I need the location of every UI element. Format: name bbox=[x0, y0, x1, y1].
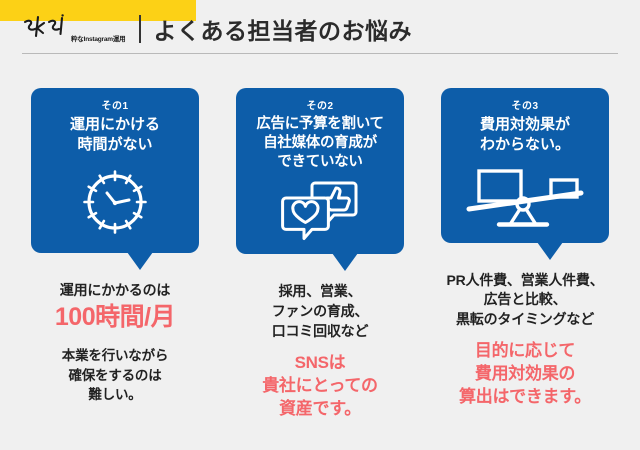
detail-highlight-line: 費用対効果の bbox=[425, 363, 625, 386]
clock-icon bbox=[76, 155, 154, 241]
detail-note-line: 難しい。 bbox=[15, 385, 215, 404]
detail-lead-line: 運用にかかるのは bbox=[15, 281, 215, 301]
problem-detail-3: PR人件費、営業人件費、 広告と比較、 黒転のタイミングなど 目的に応じて 費用… bbox=[425, 271, 625, 409]
detail-lead-line: PR人件費、営業人件費、 bbox=[425, 271, 625, 291]
detail-highlight-line: SNSは bbox=[220, 352, 420, 375]
detail-highlight-line: 貴社にとっての bbox=[220, 375, 420, 398]
detail-highlight-line: 目的に応じて bbox=[425, 340, 625, 363]
bubble-eyebrow-3: その3 bbox=[511, 97, 538, 112]
page-title: よくある担当者のお悩み bbox=[153, 12, 412, 46]
problem-detail-1: 運用にかかるのは 100時間/月 本業を行いながら 確保をするのは 難しい。 bbox=[15, 281, 215, 404]
detail-lead-line: ファンの育成、 bbox=[220, 302, 420, 322]
problem-columns: その1 運用にかける 時間がない bbox=[0, 88, 640, 420]
detail-highlight-3: 目的に応じて 費用対効果の 算出はできます。 bbox=[425, 340, 625, 408]
detail-highlight-line: 資産です。 bbox=[220, 398, 420, 421]
engagement-bubbles-icon bbox=[279, 172, 361, 242]
bubble-card-3: その3 費用対効果が わからない。 bbox=[441, 88, 609, 243]
brand-tagline: 粋なInstagram運用 bbox=[71, 33, 125, 45]
bubble-heading-1: 運用にかける 時間がない bbox=[70, 115, 160, 155]
header-rule bbox=[22, 53, 618, 54]
detail-lead-3: PR人件費、営業人件費、 広告と比較、 黒転のタイミングなど bbox=[425, 271, 625, 331]
header-divider bbox=[139, 15, 141, 43]
bubble-heading-line: 自社媒体の育成が bbox=[256, 134, 383, 153]
detail-lead-line: 採用、営業、 bbox=[220, 282, 420, 302]
bubble-heading-line: できていない bbox=[256, 153, 383, 172]
detail-note-1: 本業を行いながら 確保をするのは 難しい。 bbox=[15, 346, 215, 403]
brand-logo: 粋なInstagram運用 bbox=[22, 14, 125, 45]
header-brand-row: 粋なInstagram運用 よくある担当者のお悩み bbox=[22, 12, 412, 46]
detail-highlight-2: SNSは 貴社にとっての 資産です。 bbox=[220, 352, 420, 420]
bubble-card-1: その1 運用にかける 時間がない bbox=[31, 88, 199, 253]
bubble-eyebrow-2: その2 bbox=[306, 97, 333, 112]
detail-highlight-big-1: 100時間/月 bbox=[15, 302, 215, 332]
bubble-eyebrow-1: その1 bbox=[101, 97, 128, 112]
seesaw-balance-icon bbox=[465, 155, 585, 231]
detail-lead-line: 黒転のタイミングなど bbox=[425, 310, 625, 330]
detail-lead-line: 口コミ回収など bbox=[220, 322, 420, 342]
page-header: 粋なInstagram運用 よくある担当者のお悩み bbox=[0, 0, 640, 56]
bubble-tail-3 bbox=[537, 242, 563, 260]
bubble-card-2: その2 広告に予算を割いて 自社媒体の育成が できていない bbox=[236, 88, 404, 254]
bubble-heading-2: 広告に予算を割いて 自社媒体の育成が できていない bbox=[256, 115, 383, 172]
bubble-heading-line: 運用にかける bbox=[70, 115, 160, 135]
detail-note-line: 確保をするのは bbox=[15, 366, 215, 385]
bubble-tail-2 bbox=[332, 253, 358, 271]
problem-column-2: その2 広告に予算を割いて 自社媒体の育成が できていない bbox=[225, 88, 415, 420]
problem-column-3: その3 費用対効果が わからない。 bbox=[430, 88, 620, 420]
bubble-heading-line: 時間がない bbox=[70, 135, 160, 155]
bubble-heading-3: 費用対効果が わからない。 bbox=[480, 115, 570, 155]
problem-column-1: その1 運用にかける 時間がない bbox=[20, 88, 210, 420]
detail-lead-1: 運用にかかるのは bbox=[15, 281, 215, 301]
bubble-heading-line: 広告に予算を割いて bbox=[256, 115, 383, 134]
ski-logo-icon bbox=[22, 14, 66, 45]
bubble-heading-line: 費用対効果が bbox=[480, 115, 570, 135]
bubble-heading-line: わからない。 bbox=[480, 135, 570, 155]
detail-lead-line: 広告と比較、 bbox=[425, 290, 625, 310]
detail-highlight-line: 算出はできます。 bbox=[425, 386, 625, 409]
detail-note-line: 本業を行いながら bbox=[15, 346, 215, 365]
bubble-tail-1 bbox=[127, 252, 153, 270]
problem-detail-2: 採用、営業、 ファンの育成、 口コミ回収など SNSは 貴社にとっての 資産です… bbox=[220, 282, 420, 420]
detail-lead-2: 採用、営業、 ファンの育成、 口コミ回収など bbox=[220, 282, 420, 342]
